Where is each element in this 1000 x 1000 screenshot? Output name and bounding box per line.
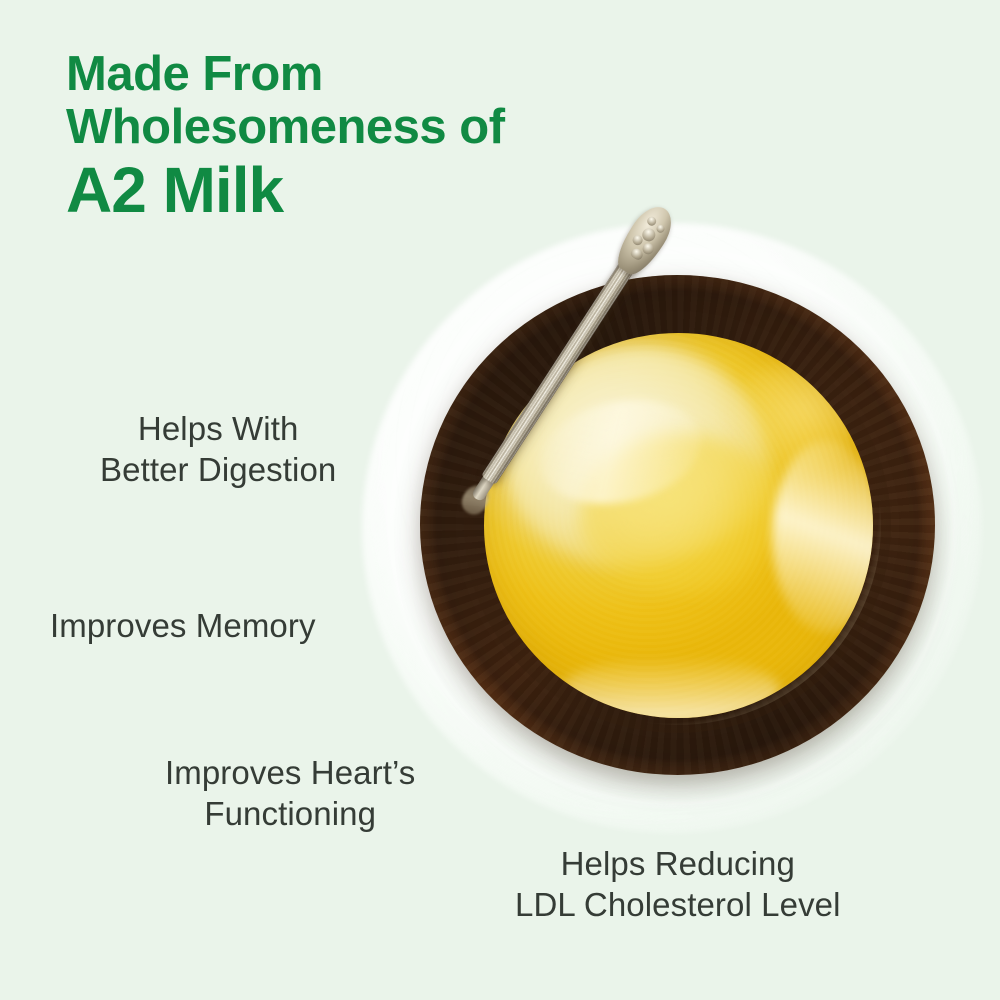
wooden-bowl: [420, 275, 935, 775]
benefit-digestion-line-2: Better Digestion: [100, 449, 336, 490]
headline-line-1: Made From: [66, 48, 505, 101]
ghee-rim-gloss-right: [772, 440, 873, 633]
ghee-rim-gloss-bottom: [562, 656, 780, 718]
benefit-memory-line-1: Improves Memory: [50, 605, 316, 646]
headline: Made From Wholesomeness of A2 Milk: [66, 48, 505, 224]
benefit-ldl-line-2: LDL Cholesterol Level: [515, 884, 841, 925]
benefit-heart-line-1: Improves Heart’s: [165, 752, 415, 793]
spoon-ornament: [645, 215, 657, 227]
benefit-digestion: Helps With Better Digestion: [100, 408, 336, 490]
benefit-heart-line-2: Functioning: [165, 793, 415, 834]
benefit-heart: Improves Heart’s Functioning: [165, 752, 415, 834]
spoon-ornament: [655, 223, 666, 234]
benefit-digestion-line-1: Helps With: [100, 408, 336, 449]
benefit-ldl-line-1: Helps Reducing: [515, 843, 841, 884]
benefit-ldl: Helps Reducing LDL Cholesterol Level: [515, 843, 841, 925]
headline-line-3: A2 Milk: [66, 156, 505, 224]
product-photo: [350, 215, 1000, 840]
promo-poster: Made From Wholesomeness of A2 Milk Helps…: [0, 0, 1000, 1000]
benefit-memory: Improves Memory: [50, 605, 316, 646]
headline-line-2: Wholesomeness of: [66, 101, 505, 154]
